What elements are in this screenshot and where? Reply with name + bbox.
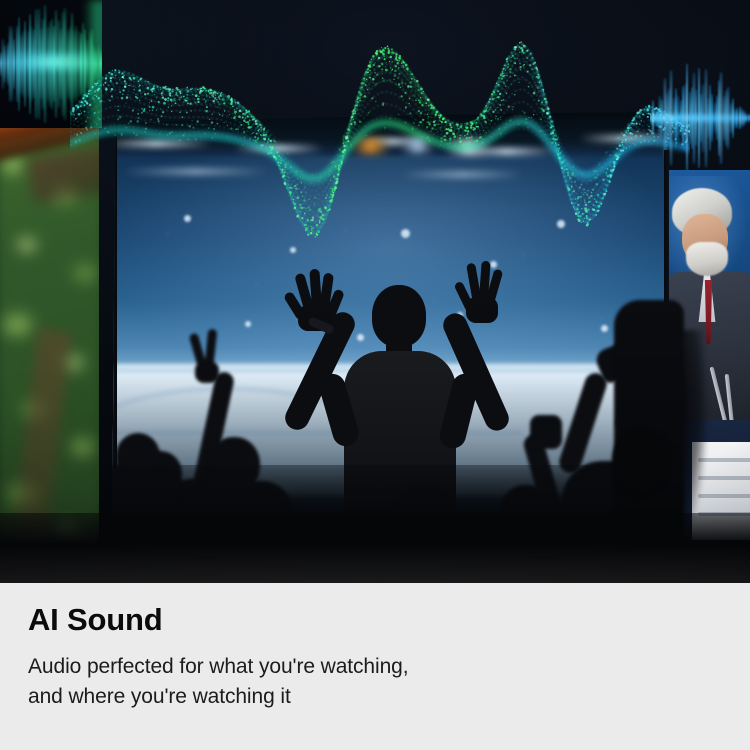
- feature-subtitle: Audio perfected for what you're watching…: [28, 652, 408, 712]
- feature-title: AI Sound: [28, 603, 162, 637]
- mesh-wave-strand: [70, 79, 690, 178]
- fan-arm: [556, 370, 609, 476]
- foreground-person-head: [612, 428, 672, 494]
- fan-hand-peace-sign: [190, 329, 224, 381]
- fan-hand: [530, 415, 562, 449]
- floor-surface: [0, 513, 750, 583]
- waveform-spike: [748, 114, 750, 122]
- mesh-wave-strand: [70, 89, 690, 206]
- mesh-wave-strand: [70, 44, 690, 234]
- mesh-wave-svg: [70, 0, 690, 242]
- caption-panel: AI Sound Audio perfected for what you're…: [0, 583, 750, 750]
- fan-hand: [456, 261, 506, 319]
- hero-product-image: [0, 0, 750, 583]
- dotted-mesh-sound-wave: [70, 0, 690, 242]
- ai-sound-feature-card: AI Sound Audio perfected for what you're…: [0, 0, 750, 750]
- commentator-beard: [686, 242, 728, 276]
- mesh-wave-strand: [70, 61, 690, 202]
- mesh-wave-strand: [70, 67, 690, 223]
- mesh-wave-strand: [70, 102, 690, 197]
